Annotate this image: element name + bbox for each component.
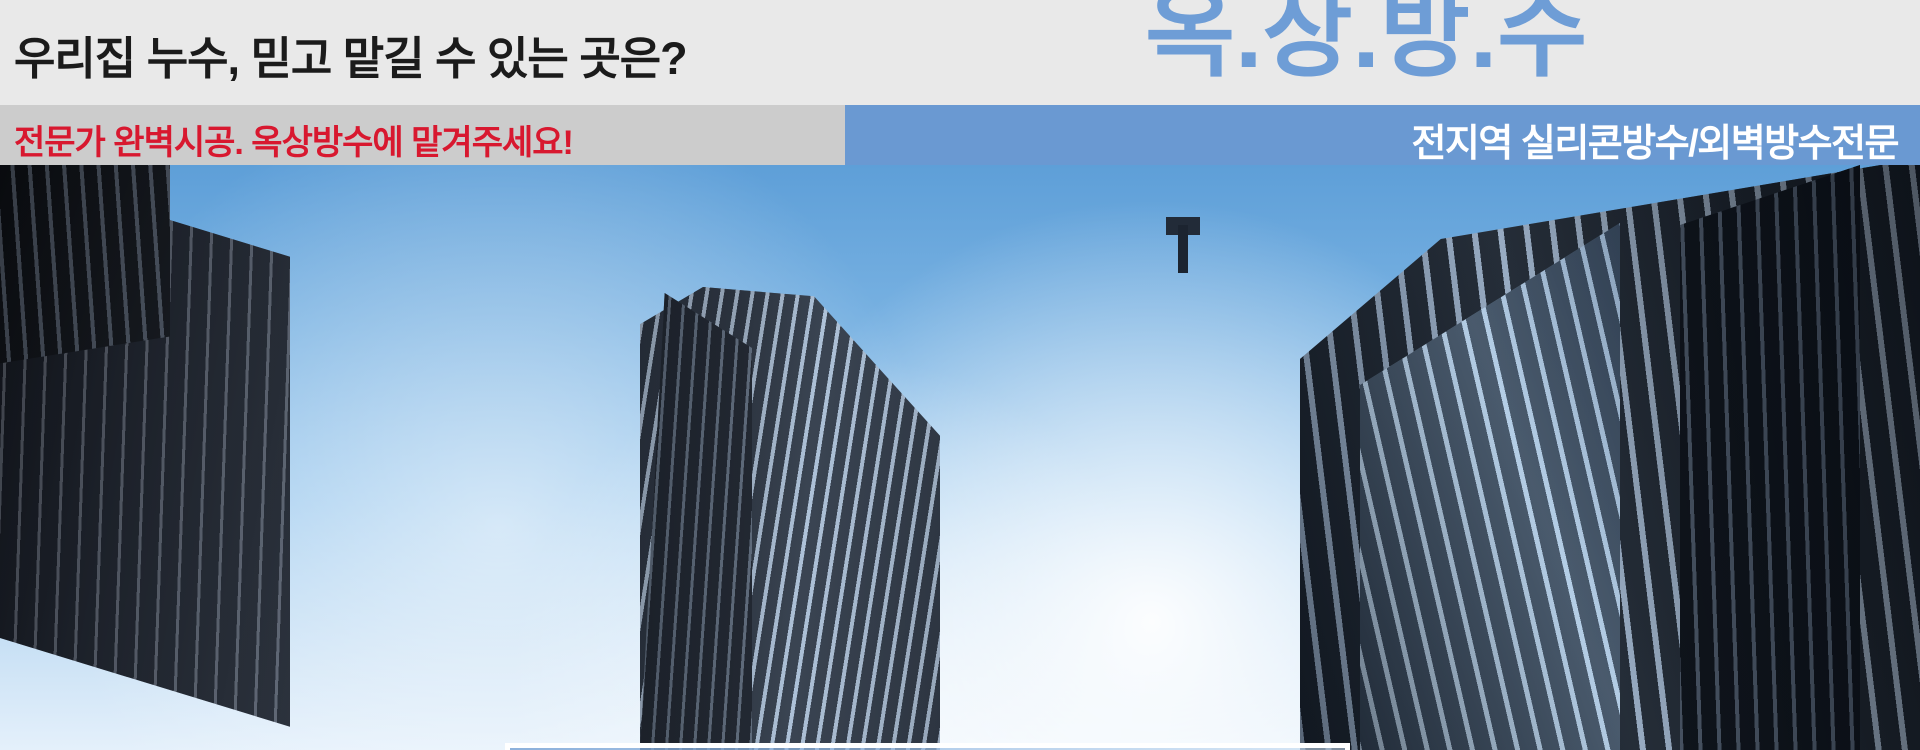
rooftop-antenna	[1178, 225, 1188, 273]
tagline-strip-blue: 전지역 실리콘방수/외벽방수전문	[845, 105, 1920, 165]
hero-photo: 해결 못 한 누수 확실하게 해결해 드립니다 ! 옥상방수가 누수를 완벽하게…	[0, 165, 1920, 750]
building-left-upper	[0, 165, 170, 365]
tagline-right-text: 전지역 실리콘방수/외벽방수전문	[1411, 112, 1898, 165]
page-headline: 우리집 누수, 믿고 맡길 수 있는 곳은?	[14, 22, 687, 87]
tagline-left-text: 전문가 완벽시공. 옥상방수에 맡겨주세요!	[14, 115, 573, 164]
building-right-wing	[1680, 165, 1860, 750]
brand-logo: 옥.상.방.수	[1145, 0, 1587, 82]
waterproofing-service-banner: 우리집 누수, 믿고 맡길 수 있는 곳은? 옥.상.방.수 전문가 완벽시공.…	[0, 0, 1920, 750]
tagline-strip-gray: 전문가 완벽시공. 옥상방수에 맡겨주세요!	[0, 105, 845, 165]
callout-box-1: 해결 못 한 누수 확실하게 해결해 드립니다 !	[505, 743, 1350, 750]
header-zone: 우리집 누수, 믿고 맡길 수 있는 곳은? 옥.상.방.수	[0, 0, 1920, 105]
